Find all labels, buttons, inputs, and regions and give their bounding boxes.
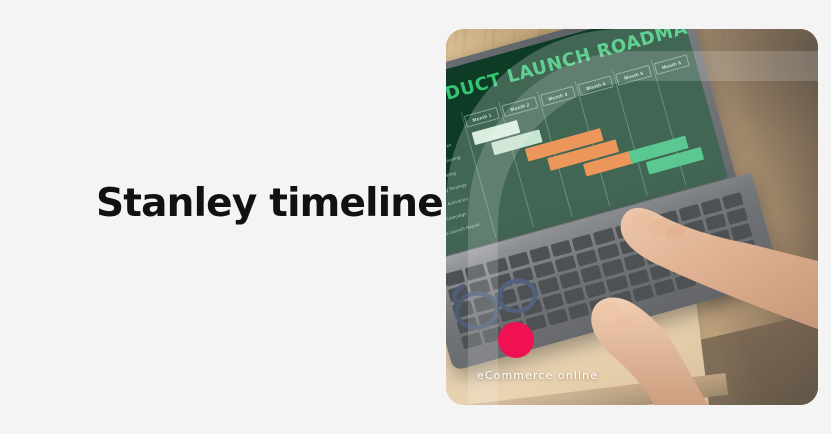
keyboard-key bbox=[598, 243, 620, 261]
keyboard-key bbox=[615, 222, 637, 240]
gantt-month-header: Month 2 bbox=[502, 96, 538, 117]
keyboard-key bbox=[623, 253, 645, 271]
keyboard-key bbox=[550, 239, 572, 257]
keyboard-key bbox=[705, 214, 727, 232]
keyboard-key bbox=[563, 286, 585, 304]
keyboard-key bbox=[628, 268, 650, 286]
gantt-task-label: Launch Activation bbox=[446, 196, 469, 211]
keyboard-key bbox=[670, 257, 692, 275]
keyboard-key bbox=[486, 257, 508, 275]
keyboard-key bbox=[730, 223, 752, 241]
keyboard-key bbox=[653, 278, 675, 296]
gantt-task-label: Paid Campaign bbox=[446, 211, 467, 225]
keyboard-key bbox=[576, 249, 598, 267]
gantt-task-label: Product Positioning bbox=[446, 155, 461, 171]
keyboard-key bbox=[636, 216, 658, 234]
gantt-month-header: Month 5 bbox=[615, 65, 651, 86]
keyboard-key bbox=[602, 259, 624, 277]
keyboard-key bbox=[559, 271, 581, 289]
keyboard-key bbox=[572, 234, 594, 252]
keyboard-key bbox=[692, 251, 714, 269]
media-caption: eCommerce online bbox=[477, 369, 598, 382]
keyboard-key bbox=[739, 254, 761, 272]
keyboard-key bbox=[666, 241, 688, 259]
keyboard-key bbox=[508, 251, 530, 269]
gantt-task-label: Post-Launch Report bbox=[446, 222, 481, 238]
keyboard-key bbox=[555, 255, 577, 273]
keyboard-key bbox=[580, 265, 602, 283]
keyboard-key bbox=[722, 192, 744, 210]
keyboard-key bbox=[718, 260, 740, 278]
keyboard-key bbox=[709, 229, 731, 247]
page-title: Stanley timeline bbox=[96, 184, 416, 225]
keyboard-key bbox=[529, 245, 551, 263]
keyboard-key bbox=[662, 225, 684, 243]
keyboard-key bbox=[645, 247, 667, 265]
keyboard-key bbox=[688, 235, 710, 253]
keyboard-key bbox=[683, 219, 705, 237]
page-root: Stanley timeline PRODUCT LAUNCH ROADMAP … bbox=[0, 0, 831, 434]
media-card[interactable]: PRODUCT LAUNCH ROADMAP Market ResearchPr… bbox=[446, 29, 818, 405]
gantt-month-header: Month 6 bbox=[653, 54, 689, 75]
keyboard-key bbox=[726, 208, 748, 226]
keyboard-key bbox=[632, 284, 654, 302]
keyboard-key bbox=[606, 274, 628, 292]
keyboard-key bbox=[546, 308, 568, 326]
keyboard-key bbox=[649, 263, 671, 281]
keyboard-key bbox=[700, 198, 722, 216]
keyboard-key bbox=[679, 204, 701, 222]
keyboard-key bbox=[735, 239, 757, 257]
gantt-column-divider bbox=[612, 70, 648, 196]
gantt-month-header: Month 3 bbox=[540, 86, 576, 107]
keyboard-key bbox=[696, 266, 718, 284]
keyboard-key bbox=[611, 290, 633, 308]
keyboard-key bbox=[640, 231, 662, 249]
keyboard-key bbox=[589, 296, 611, 314]
keyboard-key bbox=[657, 210, 679, 228]
accent-dot bbox=[498, 322, 534, 358]
keyboard-key bbox=[585, 280, 607, 298]
headline-block: Stanley timeline bbox=[96, 184, 416, 225]
gantt-month-header: Month 1 bbox=[464, 107, 500, 128]
gantt-task-label: Product Testing bbox=[446, 170, 457, 184]
keyboard-key bbox=[593, 228, 615, 246]
gantt-task-label: Market Research bbox=[446, 142, 452, 157]
gantt-task-label: Marketing Strategy bbox=[446, 182, 467, 198]
gantt-month-header: Month 4 bbox=[578, 75, 614, 96]
keyboard-key bbox=[675, 272, 697, 290]
keyboard-key bbox=[568, 302, 590, 320]
keyboard-key bbox=[619, 237, 641, 255]
keyboard-key bbox=[713, 245, 735, 263]
